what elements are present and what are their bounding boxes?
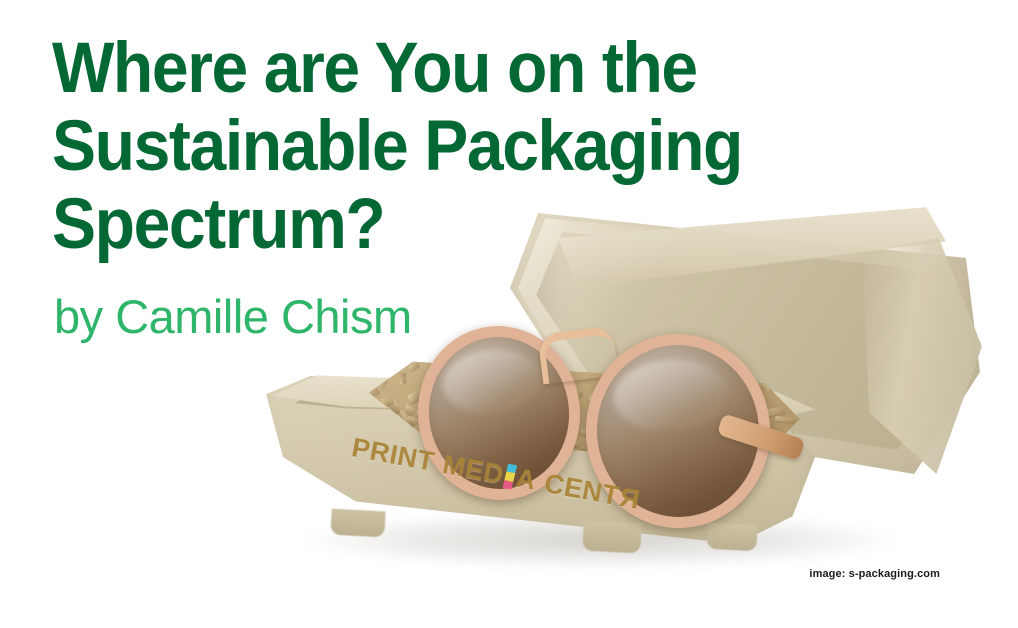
excelsior-chip: [371, 364, 376, 372]
lens-highlight: [439, 345, 543, 419]
article-header-banner: PRINT MED A CENT R Where are You on the …: [0, 0, 1018, 628]
lens-highlight: [612, 355, 730, 435]
image-credit: image: s-packaging.com: [809, 568, 940, 580]
base-foot: [330, 509, 385, 538]
author-byline: by Camille Chism: [54, 291, 412, 343]
excelsior-chip: [387, 357, 402, 373]
base-foot: [582, 521, 641, 554]
logo-letter-a: A: [513, 463, 538, 497]
base-foot: [706, 523, 757, 552]
